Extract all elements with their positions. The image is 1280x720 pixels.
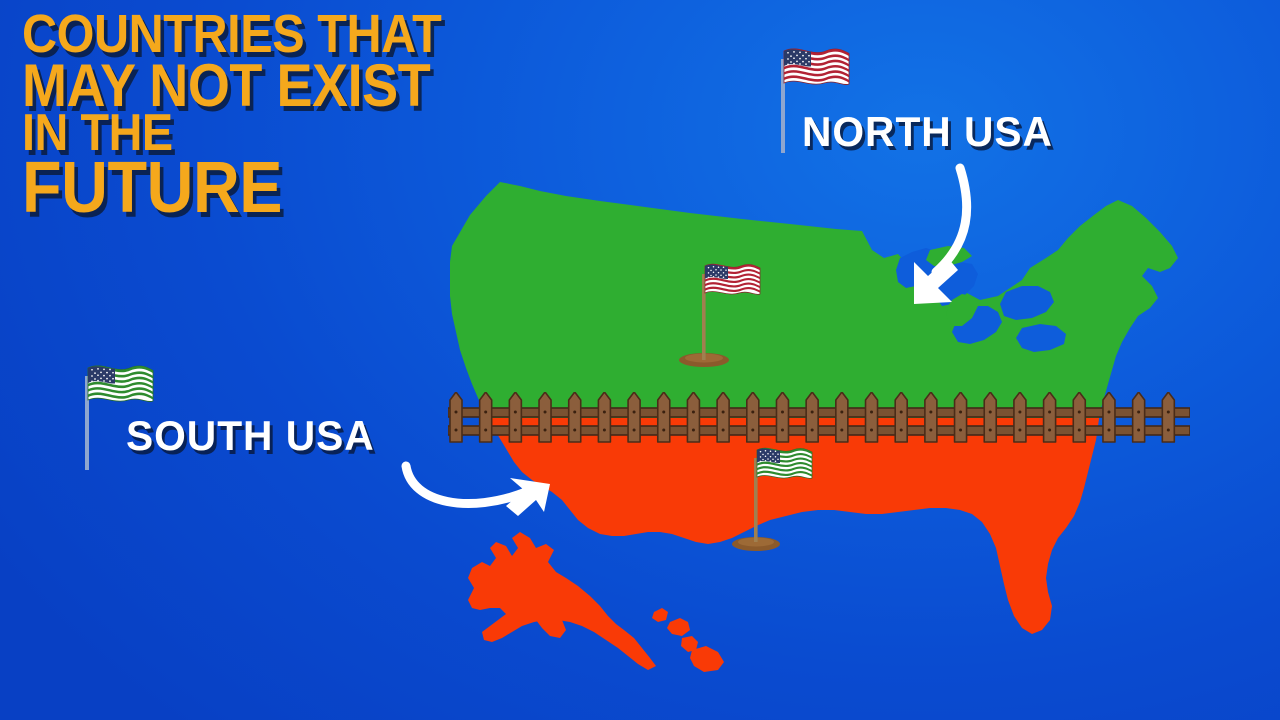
- fence-picket: [1014, 392, 1026, 442]
- fence-picket: [450, 392, 462, 442]
- fence-picket: [806, 392, 818, 442]
- fence-picket: [836, 392, 848, 442]
- us-flag-icon: [705, 264, 760, 294]
- fence-picket: [1103, 392, 1115, 442]
- fence-picket: [776, 392, 788, 442]
- fence-picket: [509, 392, 521, 442]
- title-line-4: FUTURE: [22, 155, 616, 221]
- fence-picket: [687, 392, 699, 442]
- video-thumbnail-canvas: COUNTRIES THAT MAY NOT EXIST IN THE FUTU…: [0, 0, 1280, 720]
- fence-picket: [1162, 392, 1174, 442]
- fence-picket: [1073, 392, 1085, 442]
- callout-north-usa: NORTH USA: [802, 108, 1061, 156]
- fence-picket: [1044, 392, 1056, 442]
- callout-label-north: NORTH USA: [802, 108, 1053, 156]
- fence-picket: [480, 392, 492, 442]
- fence-picket: [925, 392, 937, 442]
- fence-picket: [895, 392, 907, 442]
- border-fence: [448, 392, 1190, 448]
- page-title: COUNTRIES THAT MAY NOT EXIST IN THE FUTU…: [22, 10, 682, 221]
- fence-picket: [569, 392, 581, 442]
- planted-flag-south: [726, 440, 816, 557]
- fence-picket: [598, 392, 610, 442]
- curved-arrow-right-icon: [398, 452, 563, 522]
- fence-picket: [717, 392, 729, 442]
- fence-picket: [866, 392, 878, 442]
- us-flag-green-icon: [757, 448, 812, 478]
- curved-arrow-down-left-icon: [884, 150, 1014, 320]
- callout-south-usa: SOUTH USA: [126, 412, 382, 460]
- alaska: [468, 532, 656, 670]
- fence-picket: [955, 392, 967, 442]
- callout-label-south: SOUTH USA: [126, 412, 375, 460]
- fence-picket: [628, 392, 640, 442]
- fence-picket: [658, 392, 670, 442]
- fence-picket: [1133, 392, 1145, 442]
- fence-picket: [984, 392, 996, 442]
- planted-flag-north: [672, 250, 762, 373]
- fence-picket: [747, 392, 759, 442]
- hawaii: [652, 608, 724, 672]
- fence-picket: [539, 392, 551, 442]
